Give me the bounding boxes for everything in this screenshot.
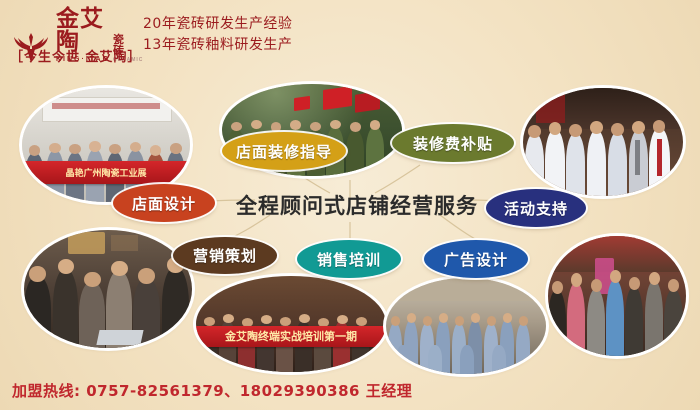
pill-label: 店面装修指导 xyxy=(236,141,332,162)
poster-footer: 加盟热线: 0757-82561379、18029390386 王经理 xyxy=(0,370,700,410)
photo-staff-group xyxy=(386,278,546,374)
pill-guanggao-sheji[interactable]: 广告设计 xyxy=(424,240,528,278)
hotline-text: 加盟热线: 0757-82561379、18029390386 王经理 xyxy=(12,380,412,401)
photo-store-crowd xyxy=(548,236,686,356)
pill-label: 店面设计 xyxy=(132,193,196,214)
pill-label: 装修费补贴 xyxy=(413,133,493,154)
pill-label: 活动支持 xyxy=(504,198,568,219)
photo-training-banner: 金艾陶终端实战培训第一期 xyxy=(196,276,386,372)
pill-xiaoshou-peixun[interactable]: 销售培训 xyxy=(297,240,401,278)
photo-banner-text: 金艾陶终端实战培训第一期 xyxy=(196,326,386,347)
pill-zhuangxiufei-butie[interactable]: 装修费补贴 xyxy=(392,124,514,162)
page-title: 全程顾问式店铺经营服务 xyxy=(222,190,492,220)
photo-banner-text: 晶艳广州陶瓷工业展 xyxy=(22,161,190,184)
pill-dianmian-sheji[interactable]: 店面设计 xyxy=(113,184,215,222)
pill-yingxiao-cehua[interactable]: 营销策划 xyxy=(173,237,277,274)
pill-label: 广告设计 xyxy=(444,249,508,270)
photo-training-desk xyxy=(24,230,192,348)
pill-dianmian-zhuangxiu-zhidao[interactable]: 店面装修指导 xyxy=(222,132,346,170)
pill-label: 销售培训 xyxy=(317,249,381,270)
pill-label: 营销策划 xyxy=(193,245,257,266)
photo-business-men xyxy=(523,88,683,196)
pill-huodong-zhichi[interactable]: 活动支持 xyxy=(486,189,586,227)
promo-poster: 金艾陶 KING·ITAO 瓷 砖 CERAMIC ［今生今世 金艾陶］ 20年… xyxy=(0,0,700,410)
